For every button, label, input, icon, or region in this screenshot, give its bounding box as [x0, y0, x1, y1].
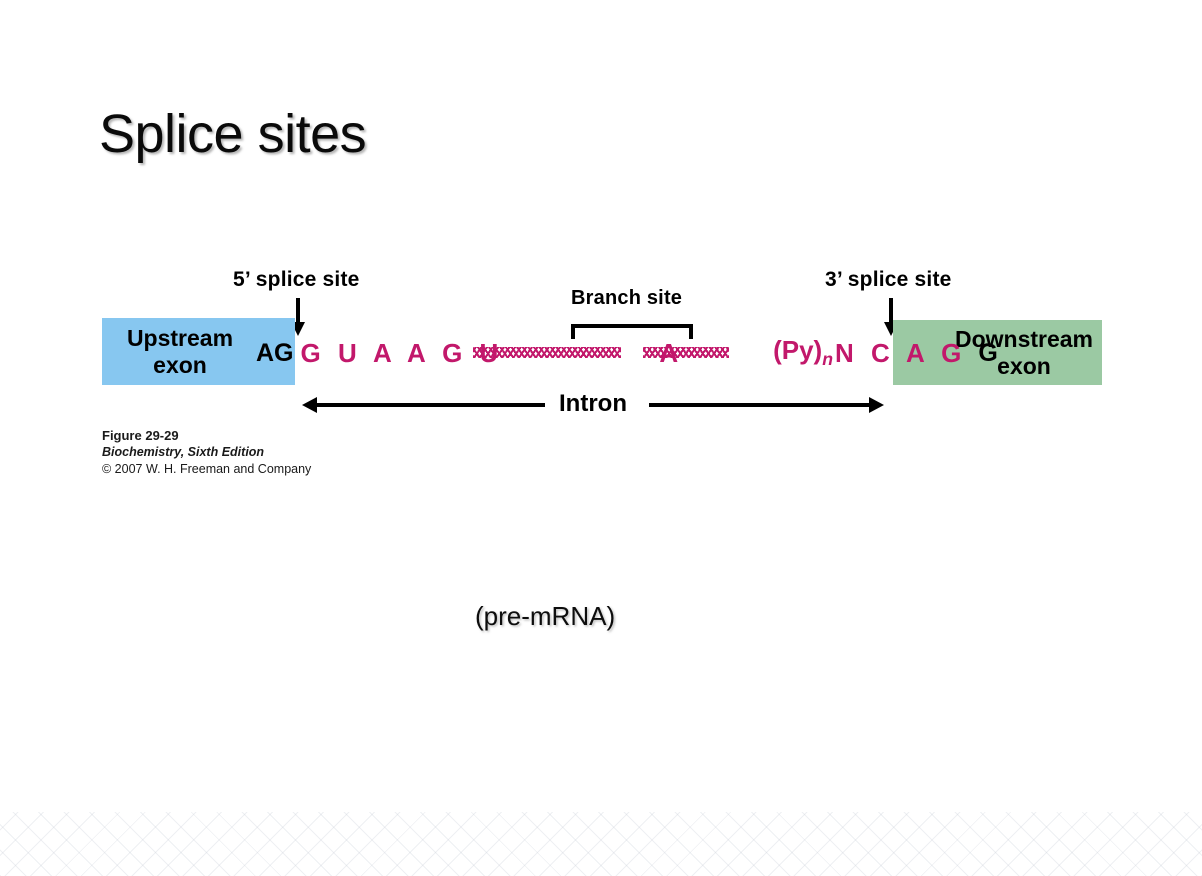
sequence-py-subscript: n [822, 350, 833, 370]
intron-arrow-bar-left [315, 403, 545, 407]
caption-source-book: Biochemistry, Sixth Edition [102, 444, 311, 461]
splice-site-diagram: 5’ splice site 3’ splice site Branch sit… [0, 0, 1202, 876]
sequence-py-text: (Py) [773, 335, 822, 365]
label-5-prime-splice-site: 5’ splice site [233, 268, 360, 292]
label-intron: Intron [550, 388, 636, 420]
intron-arrow-head-right [869, 397, 884, 413]
sequence-polypyrimidine-tract: (Py)n [773, 335, 833, 370]
caption-figure-number: Figure 29-29 [102, 427, 311, 444]
intron-span-arrow: Intron [302, 392, 884, 418]
sequence-donor-site-guaagu: G U A A G U [301, 338, 504, 369]
slide-canvas: Splice sites 5’ splice site 3’ splice si… [0, 0, 1202, 876]
figure-caption: Figure 29-29 Biochemistry, Sixth Edition… [102, 427, 311, 478]
intron-arrow-bar-right [649, 403, 871, 407]
sequence-exon-start-g: G [978, 339, 997, 368]
arrow-shaft [296, 298, 300, 324]
label-branch-site: Branch site [571, 287, 682, 310]
pre-mrna-caption: (pre-mRNA) [475, 601, 615, 632]
caption-copyright: © 2007 W. H. Freeman and Company [102, 461, 311, 478]
sequence-branch-adenosine: A [659, 338, 678, 369]
sequence-exon-end-ag: AG [256, 339, 294, 368]
label-3-prime-splice-site: 3’ splice site [825, 268, 952, 292]
sequence-acceptor-site-ncag: N C A G [835, 338, 966, 369]
pre-mrna-sequence: AG G U A A G U A (Py)n N C A G G [102, 334, 998, 372]
